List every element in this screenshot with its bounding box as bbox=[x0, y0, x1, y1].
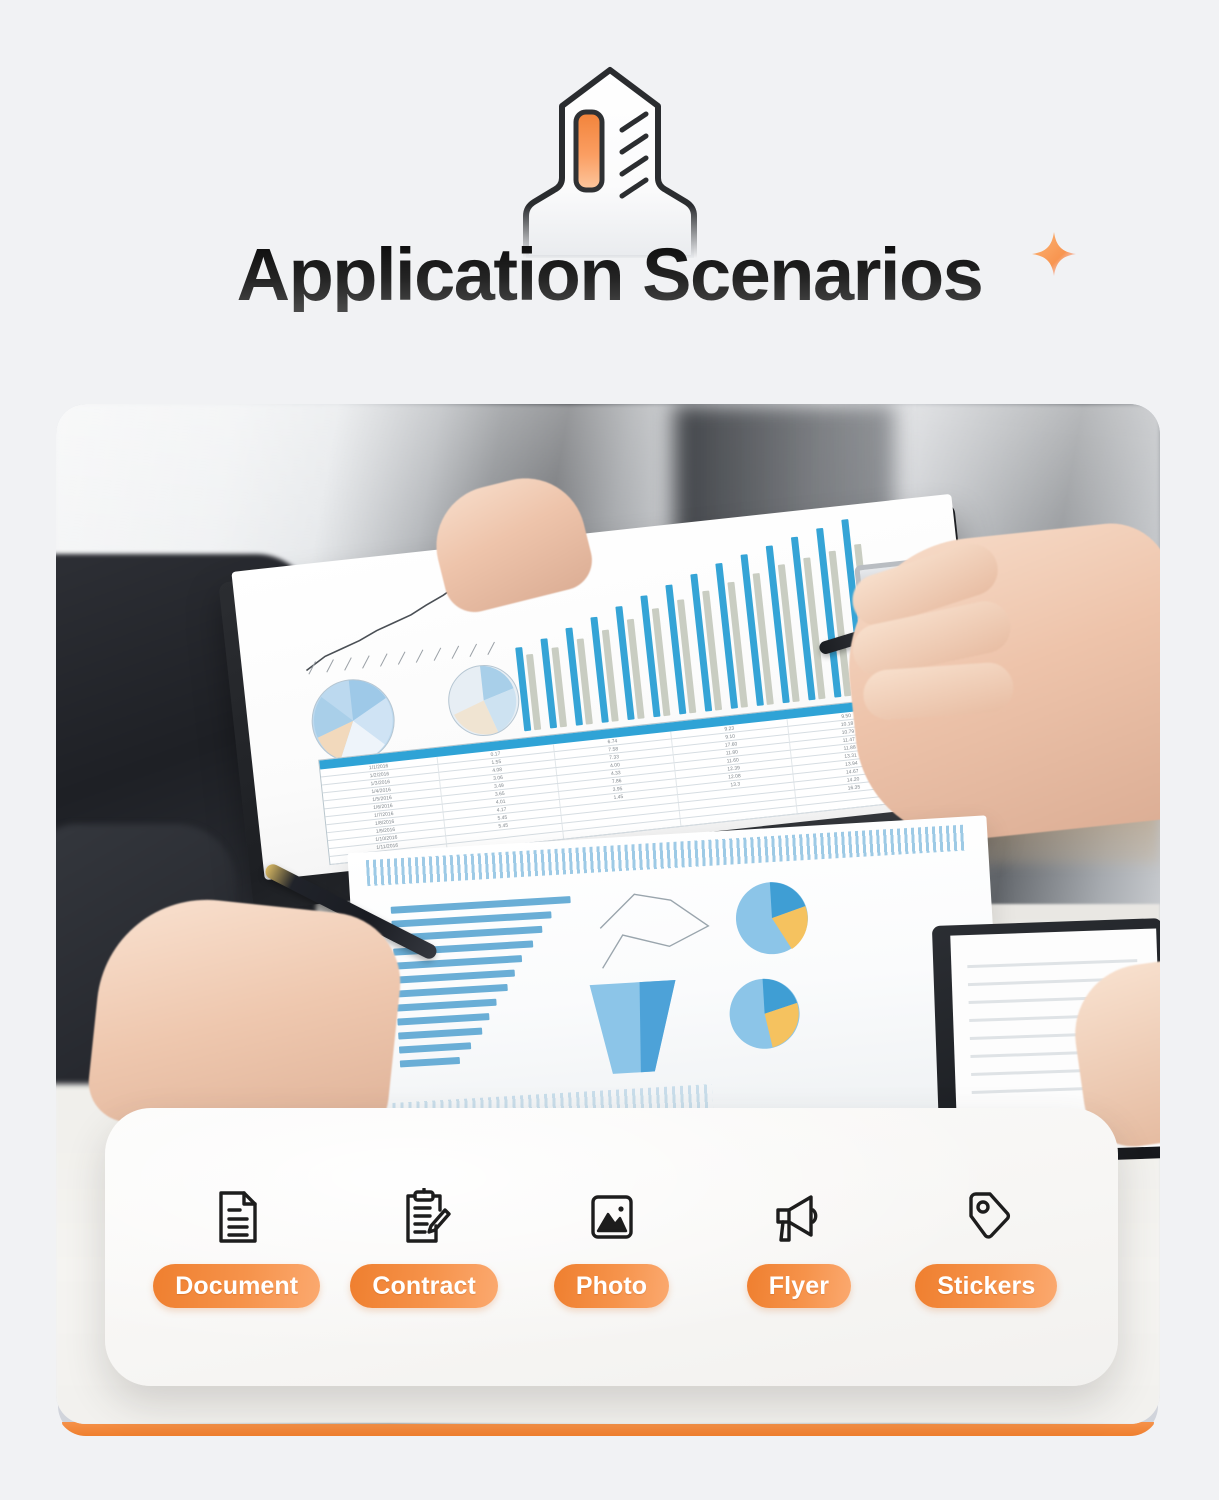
application-scenarios-page: Application Scenarios bbox=[0, 0, 1219, 1500]
secondary-pie-chart-2 bbox=[723, 973, 805, 1055]
scenario-label-stickers[interactable]: Stickers bbox=[915, 1264, 1057, 1308]
building-tower-icon bbox=[500, 62, 720, 262]
scenario-feature-card: Document bbox=[105, 1108, 1118, 1386]
scenario-tile-contract[interactable]: Contract bbox=[330, 1186, 517, 1308]
scenario-photo-panel: 1/1/2016 0.17 6.74 9.23 9.50 1/2/2016 1.… bbox=[56, 404, 1160, 1436]
scenario-label-document[interactable]: Document bbox=[153, 1264, 320, 1308]
report-pie-chart-2 bbox=[443, 660, 525, 742]
scenario-tiles: Document bbox=[105, 1108, 1118, 1386]
scenario-tile-flyer[interactable]: Flyer bbox=[705, 1186, 892, 1308]
panel-orange-edge bbox=[62, 1422, 1154, 1436]
photo-image-icon bbox=[581, 1186, 643, 1248]
scenario-label-flyer[interactable]: Flyer bbox=[747, 1264, 851, 1308]
megaphone-flyer-icon bbox=[768, 1186, 830, 1248]
scenario-tile-document[interactable]: Document bbox=[143, 1186, 330, 1308]
page-title-text: Application Scenarios bbox=[237, 238, 983, 312]
contract-clipboard-pen-icon bbox=[393, 1186, 455, 1248]
secondary-line-chart bbox=[590, 881, 725, 979]
sparkle-icon bbox=[1028, 228, 1080, 280]
scenario-tile-photo[interactable]: Photo bbox=[518, 1186, 705, 1308]
scenario-label-contract[interactable]: Contract bbox=[350, 1264, 498, 1308]
price-tag-stickers-icon bbox=[955, 1186, 1017, 1248]
secondary-funnel-chart bbox=[583, 969, 699, 1085]
document-icon bbox=[206, 1186, 268, 1248]
page-header: Application Scenarios bbox=[0, 0, 1219, 390]
secondary-pie-chart-1 bbox=[730, 876, 815, 961]
scenario-label-photo[interactable]: Photo bbox=[554, 1264, 669, 1308]
scenario-tile-stickers[interactable]: Stickers bbox=[893, 1186, 1080, 1308]
